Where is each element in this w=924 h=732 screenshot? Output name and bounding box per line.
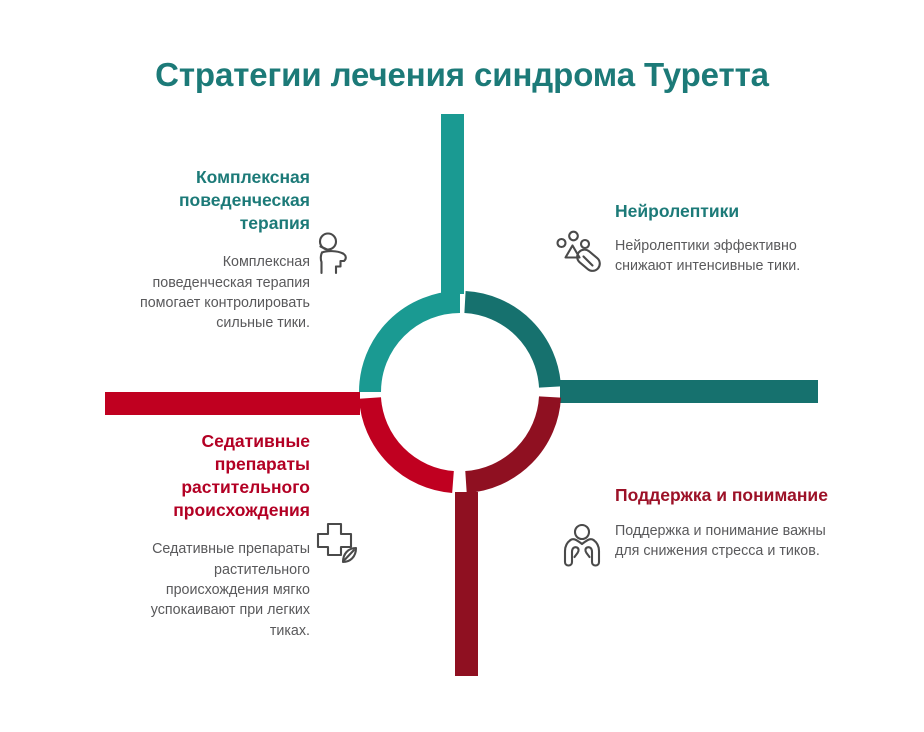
spoke-up: [441, 114, 464, 294]
quadrant-behavioral: Комплексная поведенческая терапия Компле…: [120, 166, 310, 333]
quadrant-neuroleptics-heading: Нейролептики: [615, 200, 815, 223]
pills-icon: [552, 227, 604, 279]
ring-arc-bottom-right: [466, 397, 550, 482]
ring-arc-bottom-left: [370, 398, 453, 482]
ring-arc-top-right: [465, 302, 550, 387]
person-head-icon: [306, 228, 358, 280]
ring-arc-top-left: [370, 302, 460, 392]
quadrant-sedatives: Седативные препараты растительного проис…: [112, 430, 310, 641]
quadrant-support: Поддержка и понимание Поддержка и понима…: [615, 484, 830, 562]
infographic-root: Стратегии лечения синдрома Туретта Компл…: [0, 0, 924, 732]
spoke-down: [455, 492, 478, 676]
quadrant-support-heading: Поддержка и понимание: [615, 484, 830, 507]
cross-leaf-icon: [311, 517, 363, 569]
quadrant-neuroleptics-body: Нейролептики эффективно снижают интенсив…: [615, 236, 815, 277]
spoke-right: [560, 380, 818, 403]
quadrant-neuroleptics: Нейролептики Нейролептики эффективно сни…: [615, 200, 815, 277]
spoke-left: [105, 392, 360, 415]
quadrant-support-body: Поддержка и понимание важны для снижения…: [615, 521, 830, 562]
quadrant-behavioral-heading: Комплексная поведенческая терапия: [120, 166, 310, 235]
quadrant-sedatives-body: Седативные препараты растительного проис…: [112, 539, 310, 640]
quadrant-behavioral-body: Комплексная поведенческая терапия помога…: [120, 252, 310, 333]
quadrant-sedatives-heading: Седативные препараты растительного проис…: [112, 430, 310, 522]
hands-icon: [556, 521, 608, 573]
